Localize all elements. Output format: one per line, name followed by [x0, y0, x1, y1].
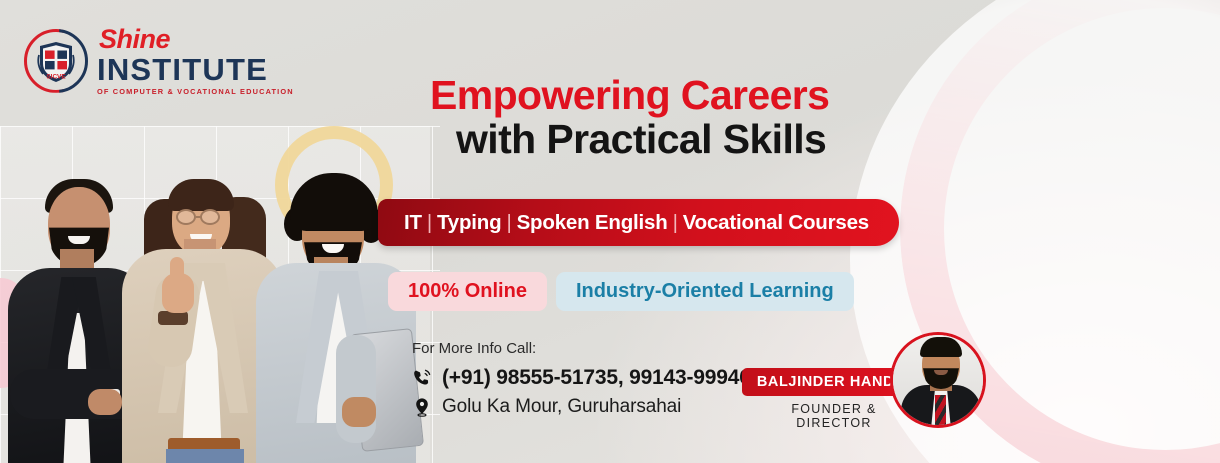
brand-name-main: INSTITUTE [97, 54, 294, 85]
founder-role: FOUNDER & DIRECTOR [752, 402, 916, 430]
status-badge-industry: Industry-Oriented Learning [556, 272, 854, 311]
brand-wordmark: Shine INSTITUTE OF COMPUTER & VOCATIONAL… [97, 26, 294, 95]
crest-emblem-icon: SICVE [24, 29, 88, 93]
avatar-hair [920, 337, 962, 357]
students-photo [0, 150, 420, 463]
contact-block: For More Info Call: (+91) 98555-51735, 9… [412, 340, 751, 424]
course-item: Spoken English [517, 211, 668, 234]
eyeglass-bridge [196, 216, 202, 218]
course-item: Typing [437, 211, 501, 234]
course-item: Vocational Courses [683, 211, 869, 234]
thumbs-up-icon [170, 257, 184, 281]
curly-hair [290, 173, 378, 231]
courses-list: IT|Typing|Spoken English|Vocational Cour… [404, 211, 869, 235]
founder-name: BALJINDER HANDA [757, 374, 905, 390]
shield-icon: SICVE [33, 37, 79, 85]
map-pin-icon [412, 396, 432, 418]
phone-icon [412, 367, 432, 389]
jeans [166, 449, 244, 463]
promotional-banner: SICVE Shine INSTITUTE OF COMPUTER & VOCA… [0, 0, 1220, 463]
contact-phone-row[interactable]: (+91) 98555-51735, 99143-99946 [412, 366, 751, 390]
contact-title: For More Info Call: [412, 340, 751, 357]
feature-badges: 100% Online Industry-Oriented Learning [388, 272, 854, 311]
eyeglass-left [176, 209, 196, 225]
contact-location-row[interactable]: Golu Ka Mour, Guruharsahai [412, 396, 751, 418]
course-item: IT [404, 211, 422, 234]
contact-phone: (+91) 98555-51735, 99143-99946 [442, 366, 751, 390]
hand [342, 397, 376, 427]
hair-top [168, 179, 234, 211]
brand-name-top: Shine [99, 26, 294, 53]
crest-label: SICVE [46, 73, 66, 80]
avatar-tie [935, 395, 946, 425]
brand-tagline: OF COMPUTER & VOCATIONAL EDUCATION [97, 88, 294, 95]
contact-location: Golu Ka Mour, Guruharsahai [442, 396, 681, 418]
headline-line-1: Empowering Careers [430, 74, 1070, 117]
eyeglass-right [200, 209, 220, 225]
status-badge-online: 100% Online [388, 272, 547, 311]
course-separator: | [501, 211, 516, 234]
brand-logo[interactable]: SICVE Shine INSTITUTE OF COMPUTER & VOCA… [24, 26, 294, 95]
founder-block: BALJINDER HANDA FOUNDER & DIRECTOR [742, 358, 992, 448]
page-title: Empowering Careers with Practical Skills [430, 74, 1070, 163]
headline-line-2: with Practical Skills [456, 117, 1070, 163]
wristwatch [158, 311, 188, 325]
avatar [890, 332, 986, 428]
hand [88, 389, 122, 415]
courses-ribbon: IT|Typing|Spoken English|Vocational Cour… [378, 199, 899, 246]
course-separator: | [668, 211, 683, 234]
course-separator: | [422, 211, 437, 234]
